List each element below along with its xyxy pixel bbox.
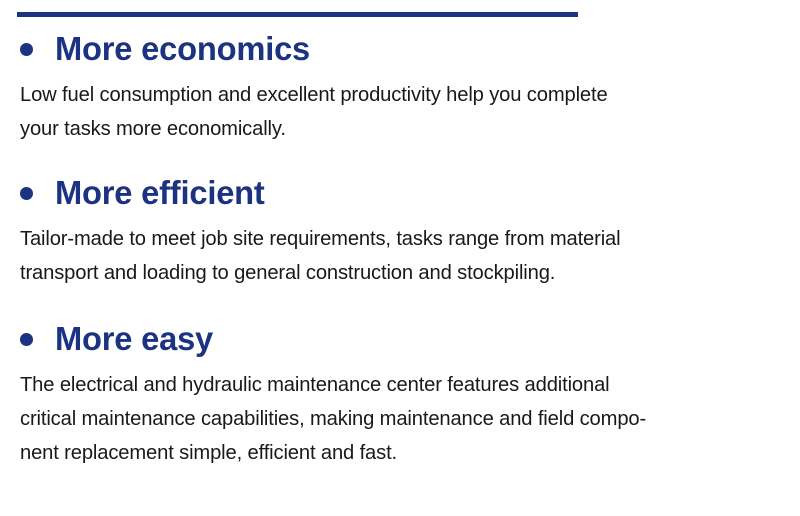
feature-heading-label: More easy (55, 322, 213, 355)
body-line: your tasks more economically. (20, 112, 773, 146)
top-divider-rule (17, 12, 578, 17)
feature-body-text: The electrical and hydraulic maintenance… (0, 368, 800, 470)
feature-heading-label: More efficient (55, 176, 265, 209)
body-line: The electrical and hydraulic maintenance… (20, 368, 773, 402)
bullet-dot-icon (20, 187, 33, 200)
feature-sections: More economics Low fuel consumption and … (0, 26, 800, 470)
feature-section-more-economics: More economics Low fuel consumption and … (0, 26, 800, 146)
body-line: nent replacement simple, efficient and f… (20, 436, 773, 470)
feature-body-text: Low fuel consumption and excellent produ… (0, 78, 800, 146)
feature-body-text: Tailor-made to meet job site requirement… (0, 222, 800, 290)
body-line: Low fuel consumption and excellent produ… (20, 78, 773, 112)
body-line: critical maintenance capabilities, makin… (20, 402, 773, 436)
body-line: transport and loading to general constru… (20, 256, 773, 290)
bullet-dot-icon (20, 43, 33, 56)
body-line: Tailor-made to meet job site requirement… (20, 222, 773, 256)
feature-list-page: More economics Low fuel consumption and … (0, 0, 800, 516)
bullet-dot-icon (20, 333, 33, 346)
feature-heading-label: More economics (55, 32, 310, 65)
feature-section-more-easy: More easy The electrical and hydraulic m… (0, 316, 800, 470)
feature-heading-row: More easy (0, 316, 800, 360)
feature-heading-row: More economics (0, 26, 800, 70)
feature-section-more-efficient: More efficient Tailor-made to meet job s… (0, 170, 800, 290)
feature-heading-row: More efficient (0, 170, 800, 214)
